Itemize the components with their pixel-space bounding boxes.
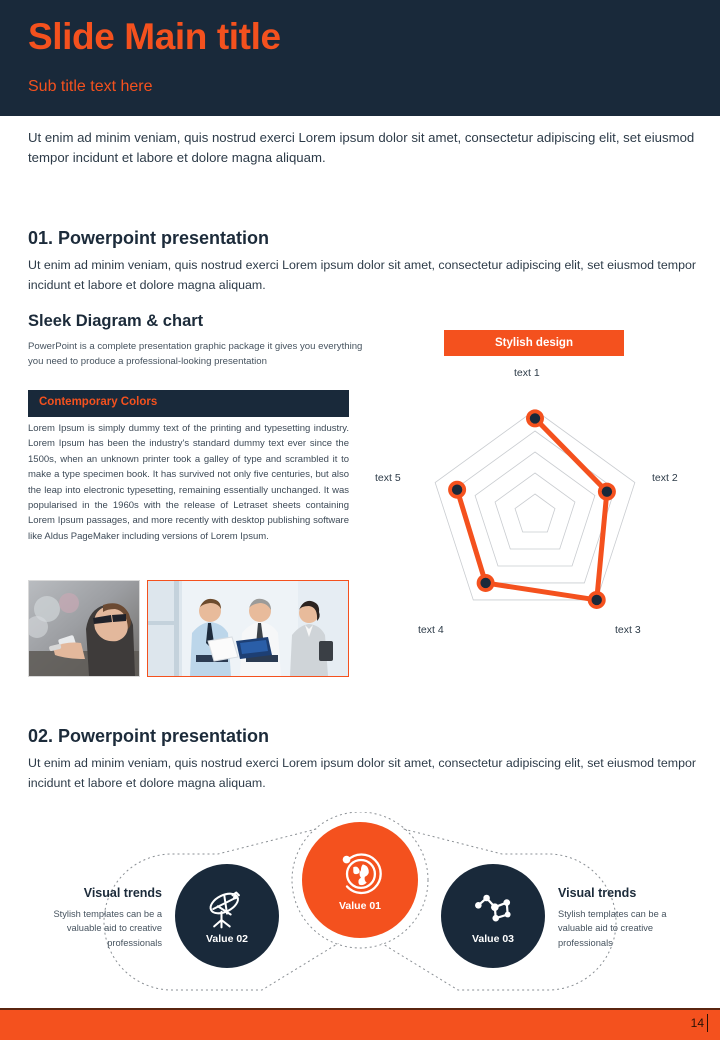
radar-axis-label-5: text 5 <box>375 472 401 484</box>
values-diagram: Visual trends Stylish templates can be a… <box>0 812 720 1000</box>
page-subtitle: Sub title text here <box>28 78 153 96</box>
left-text-block: Visual trends Stylish templates can be a… <box>22 886 162 950</box>
section-one-paragraph: Ut enim ad minim veniam, quis nostrud ex… <box>28 256 696 296</box>
left-block-text: Stylish templates can be a valuable aid … <box>22 907 162 950</box>
radar-axis-label-1: text 1 <box>514 367 540 379</box>
contemporary-colors-body: Lorem Ipsum is simply dummy text of the … <box>28 421 349 544</box>
page-title: Slide Main title <box>28 18 281 55</box>
globe-orbit-icon <box>335 848 385 898</box>
business-team-photo <box>147 580 349 677</box>
value-node-01[interactable]: Value 01 <box>302 822 418 938</box>
slide-canvas: Slide Main title Sub title text here Ut … <box>0 0 720 1040</box>
value-node-02[interactable]: Value 02 <box>175 864 279 968</box>
intro-paragraph: Ut enim ad minim veniam, quis nostrud ex… <box>28 128 696 169</box>
satellite-dish-icon <box>205 887 249 931</box>
radar-axis-label-2: text 2 <box>652 472 678 484</box>
slide-footer: 14 <box>0 1008 720 1040</box>
stylish-design-button[interactable]: Stylish design <box>444 330 624 356</box>
section-two-paragraph: Ut enim ad minim veniam, quis nostrud ex… <box>28 754 696 794</box>
value-node-02-label: Value 02 <box>206 933 248 945</box>
radar-chart-svg <box>362 362 702 652</box>
section-one-heading: 01. Powerpoint presentation <box>28 228 269 249</box>
woman-with-phone-photo <box>28 580 140 677</box>
radar-axis-label-3: text 3 <box>615 624 641 636</box>
text-cursor <box>707 1014 708 1032</box>
network-nodes-icon <box>471 887 515 931</box>
contemporary-colors-bar: Contemporary Colors <box>28 390 349 417</box>
radar-axis-label-4: text 4 <box>418 624 444 636</box>
right-block-text: Stylish templates can be a valuable aid … <box>558 907 698 950</box>
page-number: 14 <box>691 1016 704 1030</box>
sleek-diagram-heading: Sleek Diagram & chart <box>28 312 203 331</box>
value-node-01-label: Value 01 <box>339 900 381 912</box>
section-two-heading: 02. Powerpoint presentation <box>28 726 269 747</box>
photo-b-art <box>148 581 348 676</box>
sleek-diagram-paragraph: PowerPoint is a complete presentation gr… <box>28 340 380 370</box>
contemporary-colors-label: Contemporary Colors <box>39 396 157 408</box>
right-block-title: Visual trends <box>558 886 698 900</box>
radar-chart: text 1 text 2 text 3 text 4 text 5 <box>362 362 702 652</box>
value-node-03-label: Value 03 <box>472 933 514 945</box>
right-text-block: Visual trends Stylish templates can be a… <box>558 886 698 950</box>
left-block-title: Visual trends <box>22 886 162 900</box>
slide-header: Slide Main title Sub title text here <box>0 0 720 116</box>
value-node-03[interactable]: Value 03 <box>441 864 545 968</box>
photo-a-art <box>29 581 139 676</box>
